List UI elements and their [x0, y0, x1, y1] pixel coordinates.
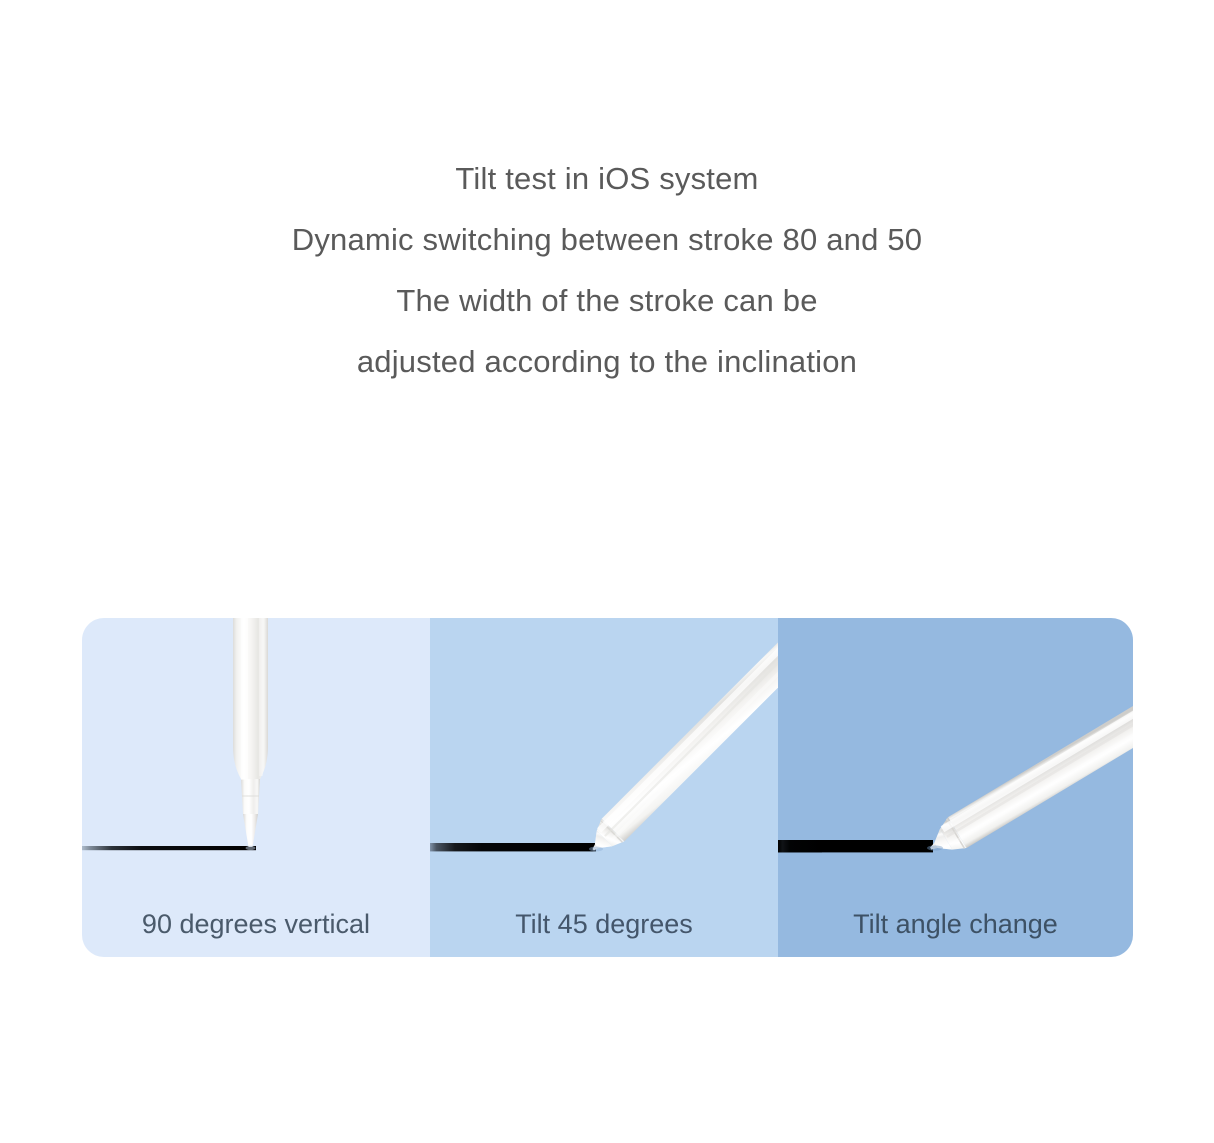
tilt-panel-angle-change: Tilt angle change [778, 618, 1133, 957]
panel-caption-45: Tilt 45 degrees [430, 907, 778, 941]
tilt-panel-45: Tilt 45 degrees [430, 618, 778, 957]
heading-block: Tilt test in iOS system Dynamic switchin… [0, 148, 1214, 392]
tilt-demo-strip: 90 degrees vertical [82, 618, 1133, 957]
panel-caption-vertical: 90 degrees vertical [82, 907, 430, 941]
heading-line-3: The width of the stroke can be [0, 270, 1214, 331]
heading-line-2: Dynamic switching between stroke 80 and … [0, 209, 1214, 270]
stroke-line [82, 846, 256, 850]
panel-caption-angle-change: Tilt angle change [778, 907, 1133, 941]
tilt-panel-vertical: 90 degrees vertical [82, 618, 430, 957]
heading-line-1: Tilt test in iOS system [0, 148, 1214, 209]
heading-line-4: adjusted according to the inclination [0, 331, 1214, 392]
stroke-line [430, 843, 596, 851]
